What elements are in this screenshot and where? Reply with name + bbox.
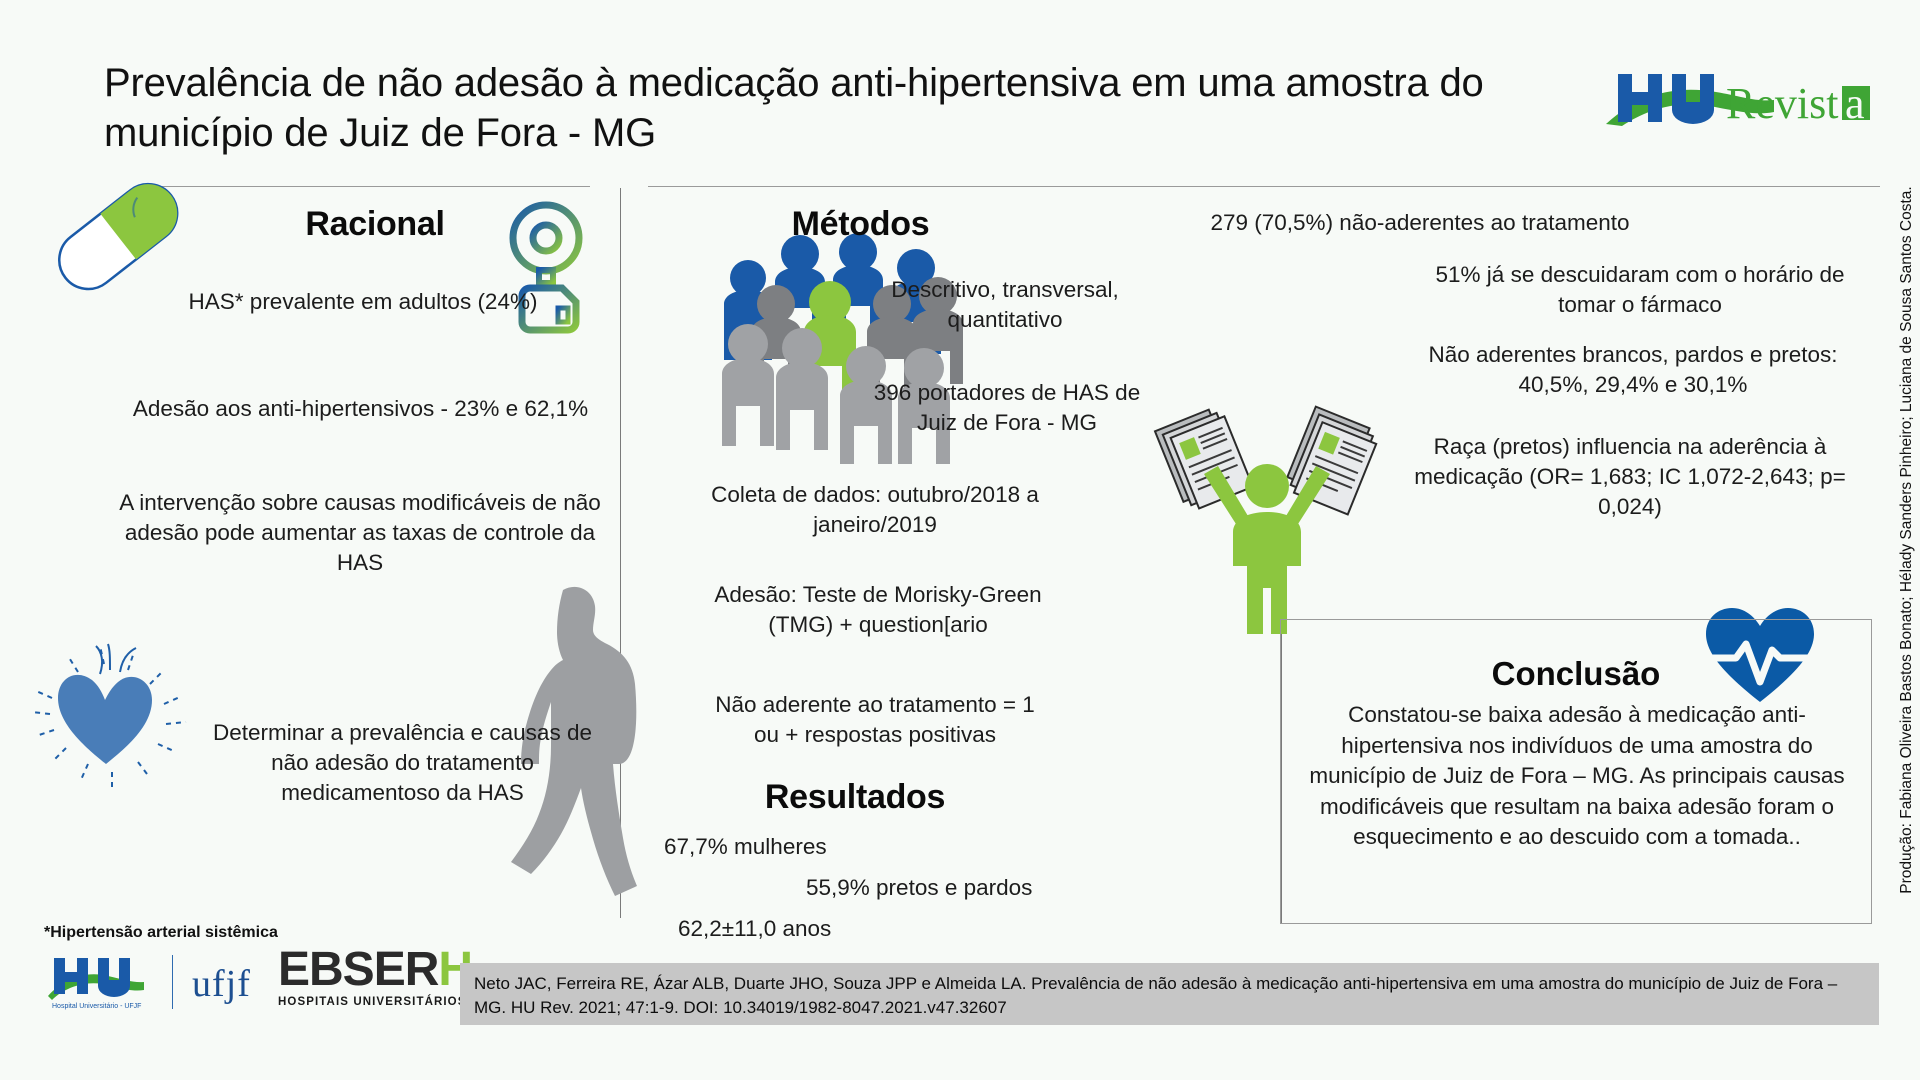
divider-right-top: [648, 186, 1880, 187]
hu-hospital-sublabel: Hospital Universitário - UFJF: [52, 1003, 141, 1010]
production-credit: Produção: Fabiana Oliveira Bastos Bonato…: [1898, 186, 1916, 893]
section-title-conclusao: Conclusão: [1280, 655, 1872, 693]
racional-line-3: A intervenção sobre causas modificáveis …: [110, 488, 610, 578]
hu-hospital-logo: Hospital Universitário - UFJF: [46, 952, 158, 1012]
racional-line-1: HAS* prevalente em adultos (24%): [128, 287, 598, 317]
logo-revista-last-letter: a: [1845, 79, 1865, 128]
metodos-line-5: Não aderente ao tratamento = 1 ou + resp…: [700, 690, 1050, 750]
person-with-documents-icon: [1160, 412, 1375, 637]
logo-revista-text: Revist: [1726, 79, 1838, 128]
divider-left-top: [160, 186, 590, 187]
resultados-right-3: Não aderentes brancos, pardos e pretos: …: [1408, 340, 1858, 400]
crowd-of-people-icon: [718, 228, 980, 488]
section-title-racional: Racional: [160, 205, 590, 244]
page-title: Prevalência de não adesão à medicação an…: [104, 58, 1484, 158]
resultados-right-2: 51% já se descuidaram com o horário de t…: [1420, 260, 1860, 320]
hu-revista-logo-svg: Revist a: [1604, 68, 1872, 128]
conclusion-text: Constatou-se baixa adesão à medicação an…: [1296, 700, 1858, 853]
metodos-line-1: Descritivo, transversal, quantitativo: [860, 275, 1150, 335]
poster-canvas: Prevalência de não adesão à medicação an…: [0, 0, 1920, 1080]
racional-objective: Determinar a prevalência e causas de não…: [200, 718, 605, 808]
resultados-left-1: 67,7% mulheres: [664, 832, 984, 862]
racional-line-2: Adesão aos anti-hipertensivos - 23% e 62…: [108, 394, 613, 424]
citation-bar: Neto JAC, Ferreira RE, Ázar ALB, Duarte …: [460, 963, 1879, 1025]
logo-divider: [172, 955, 173, 1009]
section-title-resultados: Resultados: [660, 778, 1050, 817]
metodos-line-3: Coleta de dados: outubro/2018 a janeiro/…: [710, 480, 1040, 540]
resultados-right-1: 279 (70,5%) não-aderentes ao tratamento: [1185, 208, 1655, 238]
ufjf-logo: ufjf: [192, 962, 251, 1006]
resultados-left-3: 62,2±11,0 anos: [678, 914, 978, 944]
anatomical-heart-icon: [32, 640, 192, 800]
metodos-line-2: 396 portadores de HAS de Juiz de Fora - …: [862, 378, 1152, 438]
section-title-metodos: Métodos: [648, 205, 1073, 244]
hu-revista-logo: Revist a: [1604, 68, 1872, 128]
metodos-line-4: Adesão: Teste de Morisky-Green (TMG) + q…: [708, 580, 1048, 640]
resultados-left-2: 55,9% pretos e pardos: [806, 873, 1106, 903]
footnote-hipertensao: *Hipertensão arterial sistêmica: [44, 924, 278, 942]
resultados-right-4: Raça (pretos) influencia na aderência à …: [1400, 432, 1860, 522]
